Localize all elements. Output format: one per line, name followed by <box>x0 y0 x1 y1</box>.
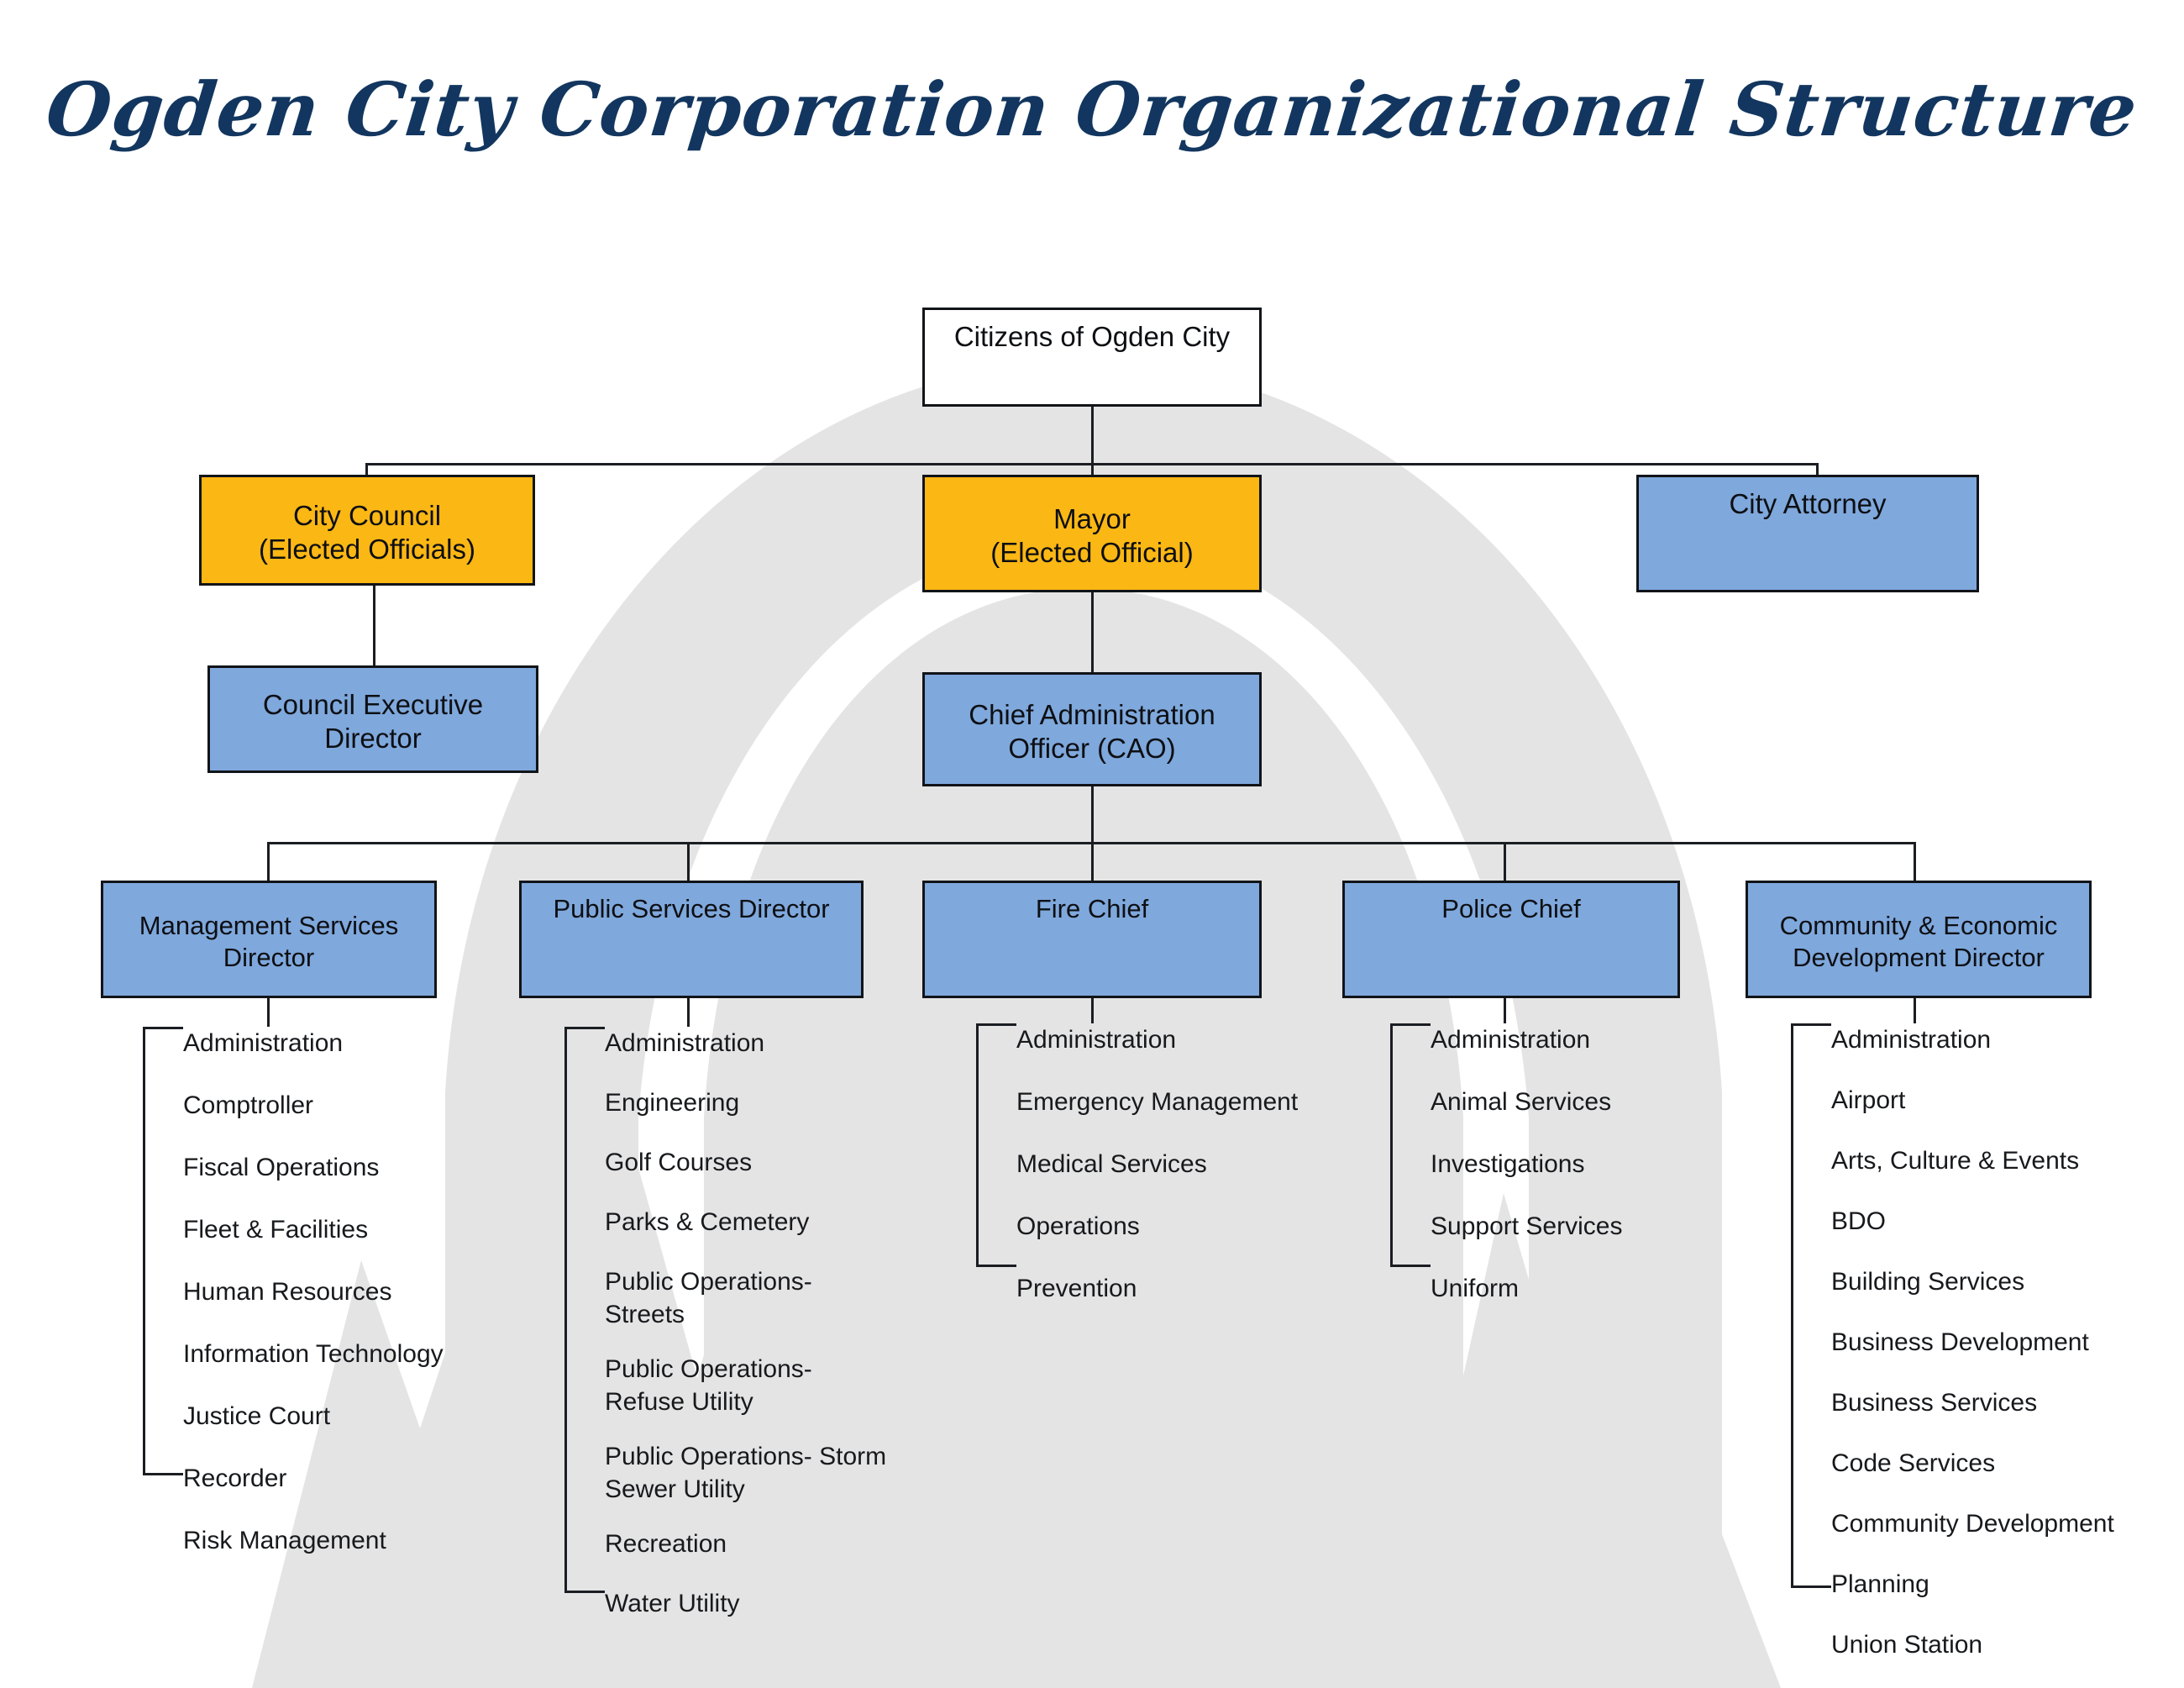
division-item[interactable]: Public Operations-Refuse Utility <box>605 1353 848 1418</box>
bracket-fire-chief <box>976 1023 1016 1267</box>
node-fire-chief-label: Fire Chief <box>933 893 1251 925</box>
connector-mayor-to-cao <box>1091 592 1094 672</box>
node-city-council-line1: City Council <box>210 499 524 533</box>
division-item[interactable]: Operations <box>1016 1210 1327 1243</box>
division-item[interactable]: Public Operations-Streets <box>605 1265 848 1331</box>
division-item[interactable]: Investigations <box>1431 1148 1741 1181</box>
node-cao[interactable]: Chief Administration Officer (CAO) <box>922 672 1262 786</box>
division-item[interactable]: BDO <box>1831 1205 2167 1238</box>
division-item[interactable]: Administration <box>183 1027 494 1060</box>
connector-bus-to-fire-chief <box>1091 842 1094 881</box>
connector-bus-to-ced <box>1914 842 1916 881</box>
division-items-management-services: Administration Comptroller Fiscal Operat… <box>183 1027 494 1557</box>
division-item[interactable]: Recorder <box>183 1462 494 1495</box>
node-city-attorney[interactable]: City Attorney <box>1636 475 1979 592</box>
division-item[interactable]: Public Operations- Storm Sewer Utility <box>605 1440 916 1506</box>
bracket-police-chief <box>1390 1023 1431 1267</box>
connector-cao-down <box>1091 786 1094 842</box>
division-item[interactable]: Information Technology <box>183 1338 494 1370</box>
node-public-services-director[interactable]: Public Services Director <box>519 881 864 998</box>
node-ced-line2: Development Director <box>1756 942 2081 974</box>
node-management-services-line1: Management Services <box>112 910 426 942</box>
connector-bus-to-management-services <box>267 842 270 881</box>
division-item[interactable]: Arts, Culture & Events <box>1831 1144 2167 1177</box>
connector-council-to-exec <box>373 586 375 665</box>
division-item[interactable]: Business Services <box>1831 1386 2167 1419</box>
division-item[interactable]: Animal Services <box>1431 1086 1741 1118</box>
node-council-exec-line2: Director <box>218 722 528 755</box>
division-item[interactable]: Uniform <box>1431 1272 1741 1305</box>
node-management-services-director[interactable]: Management Services Director <box>101 881 437 998</box>
node-council-executive-director[interactable]: Council Executive Director <box>207 665 538 773</box>
division-item[interactable]: Airport <box>1831 1084 2167 1117</box>
division-items-fire-chief: Administration Emergency Management Medi… <box>1016 1023 1327 1305</box>
division-items-ced: Administration Airport Arts, Culture & E… <box>1831 1023 2167 1661</box>
node-mayor-line1: Mayor <box>933 502 1251 536</box>
node-public-services-label: Public Services Director <box>530 893 853 925</box>
node-city-council[interactable]: City Council (Elected Officials) <box>199 475 535 586</box>
division-item[interactable]: Water Utility <box>605 1587 924 1620</box>
division-item[interactable]: Fiscal Operations <box>183 1151 494 1184</box>
division-item[interactable]: Business Development <box>1831 1326 2167 1359</box>
page-title: Ogden City Corporation Organizational St… <box>0 66 2184 153</box>
division-items-public-services: Administration Engineering Golf Courses … <box>605 1027 924 1620</box>
connector-citizens-down <box>1091 407 1094 463</box>
division-item[interactable]: Medical Services <box>1016 1148 1327 1181</box>
division-item[interactable]: Human Resources <box>183 1275 494 1308</box>
connector-ced-drop <box>1914 998 1916 1023</box>
division-item[interactable]: Support Services <box>1431 1210 1741 1243</box>
division-item[interactable]: Engineering <box>605 1086 924 1119</box>
node-mayor-line2: (Elected Official) <box>933 536 1251 570</box>
connector-bus-to-police-chief <box>1504 842 1506 881</box>
division-item[interactable]: Administration <box>1016 1023 1327 1056</box>
division-item[interactable]: Comptroller <box>183 1089 494 1122</box>
node-citizens-label: Citizens of Ogden City <box>933 320 1251 354</box>
node-city-council-line2: (Elected Officials) <box>210 533 524 566</box>
connector-police-chief-drop <box>1504 998 1506 1023</box>
node-citizens[interactable]: Citizens of Ogden City <box>922 308 1262 407</box>
division-item[interactable]: Building Services <box>1831 1265 2167 1298</box>
node-cao-line1: Chief Administration <box>933 698 1251 732</box>
division-item[interactable]: Fleet & Facilities <box>183 1213 494 1246</box>
connector-management-services-drop <box>267 998 270 1027</box>
division-item[interactable]: Risk Management <box>183 1524 494 1557</box>
division-item[interactable]: Planning <box>1831 1568 2167 1601</box>
division-item[interactable]: Code Services <box>1831 1447 2167 1480</box>
node-police-chief-label: Police Chief <box>1353 893 1669 925</box>
connector-bus-to-public-services <box>687 842 690 881</box>
bracket-ced <box>1791 1023 1831 1588</box>
division-item[interactable]: Emergency Management <box>1016 1086 1327 1118</box>
bracket-public-services <box>564 1027 605 1593</box>
division-item[interactable]: Community Development <box>1831 1507 2167 1540</box>
division-item[interactable]: Parks & Cemetery <box>605 1206 924 1238</box>
division-item[interactable]: Recreation <box>605 1528 924 1560</box>
node-police-chief[interactable]: Police Chief <box>1342 881 1680 998</box>
node-management-services-line2: Director <box>112 942 426 974</box>
division-item[interactable]: Prevention <box>1016 1272 1327 1305</box>
bracket-management-services <box>143 1027 183 1475</box>
connector-fire-chief-drop <box>1091 998 1094 1023</box>
node-mayor[interactable]: Mayor (Elected Official) <box>922 475 1262 592</box>
node-council-exec-line1: Council Executive <box>218 688 528 722</box>
division-item[interactable]: Golf Courses <box>605 1146 924 1179</box>
division-item[interactable]: Administration <box>605 1027 924 1060</box>
division-item[interactable]: Administration <box>1431 1023 1741 1056</box>
division-items-police-chief: Administration Animal Services Investiga… <box>1431 1023 1741 1305</box>
node-ced-line1: Community & Economic <box>1756 910 2081 942</box>
node-fire-chief[interactable]: Fire Chief <box>922 881 1262 998</box>
connector-public-services-drop <box>687 998 690 1027</box>
node-city-attorney-label: City Attorney <box>1647 487 1968 521</box>
node-cao-line2: Officer (CAO) <box>933 732 1251 765</box>
node-community-economic-development-director[interactable]: Community & Economic Development Directo… <box>1746 881 2092 998</box>
division-item[interactable]: Union Station <box>1831 1628 2167 1661</box>
division-item[interactable]: Justice Court <box>183 1400 494 1433</box>
division-item[interactable]: Administration <box>1831 1023 2167 1056</box>
